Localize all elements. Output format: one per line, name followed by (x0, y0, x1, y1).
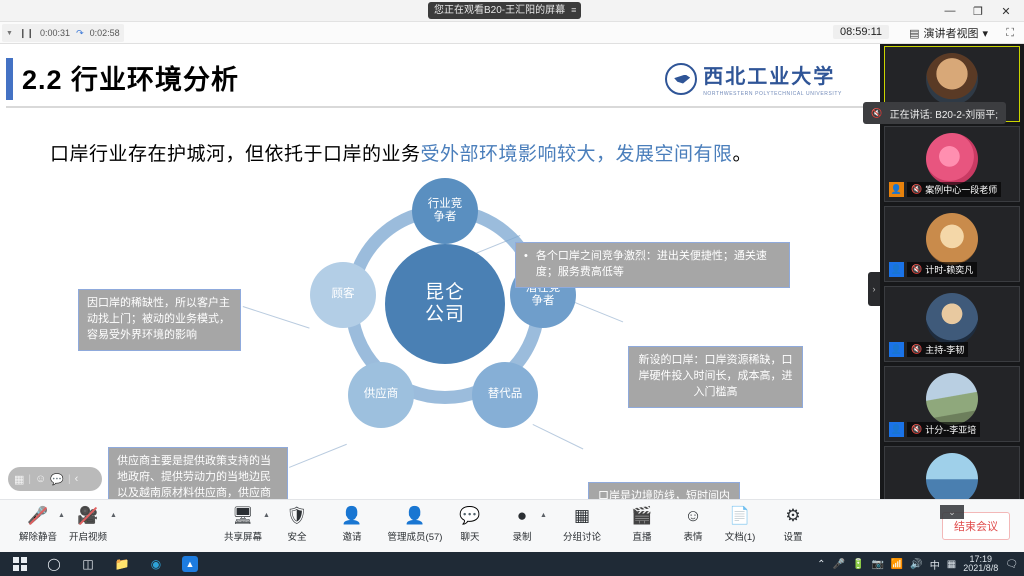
participant-badge-icon: 👤 (889, 262, 904, 277)
callout-text: 各个口岸之间竞争激烈：进出关便捷性；通关速度；服务费高低等 (536, 249, 781, 281)
toolbar-label: 邀请 (342, 529, 361, 543)
fullscreen-icon[interactable]: ⛶ (1006, 27, 1014, 40)
participant-tile[interactable]: 👤 🔇 计时-赖奕凡 (884, 206, 1020, 282)
callout-text: 因口岸的稀缺性，所以客户主动找上门；被动的业务模式，容易受外界环境的影响 (87, 297, 230, 341)
chevron-up-icon[interactable]: ⌃ (817, 559, 825, 570)
media-playback-controls[interactable]: ▼ ❙❙ 0:00:31 ↷ 0:02:58 (2, 24, 124, 42)
elapsed-time: 0:00:31 (40, 28, 70, 38)
avatar (926, 453, 978, 505)
mic-muted-icon: 🔇 (911, 184, 922, 195)
caption-icon[interactable]: 💬 (50, 473, 64, 486)
participant-name: 主持-李韧 (925, 343, 964, 356)
rail-scroll-down-button[interactable]: ⌄ (940, 505, 964, 519)
toolbar-label: 开启视频 (69, 529, 107, 543)
loop-icon[interactable]: ↷ (76, 28, 84, 39)
slide-lead-text: 口岸行业存在护城河，但依托于口岸的业务受外部环境影响较大，发展空间有限。 (50, 139, 850, 166)
avatar (926, 133, 978, 185)
taskbar-date: 2021/8/8 (963, 563, 998, 573)
meeting-toolbar: 🎤 解除静音 ▲ 🎥 开启视频 ▲ 🖥 共享屏幕 ▲ 🛡 安全 👤 邀请 👤 管… (0, 499, 1024, 552)
lead-text-highlight: 受外部环境影响较大，发展空间有限 (421, 144, 733, 165)
emoji-icon[interactable]: ☺ (35, 473, 46, 485)
callout-text: 新设的口岸：口岸资源稀缺，口岸硬件投入时间长，成本高，进入门槛高 (639, 354, 793, 398)
meeting-screen-share-window: ⓘ 🛡 📶 您正在观看B20-王汇阳的屏幕 ≡ — ❐ ✕ ▼ ❙❙ 0:00:… (0, 0, 1024, 576)
notification-icon[interactable]: 🗨 (1005, 559, 1018, 570)
diagram-node-customer: 顾客 (310, 262, 376, 328)
record-icon: ● (517, 505, 527, 527)
toolbar-label: 聊天 (460, 529, 479, 543)
lead-text-part1: 口岸行业存在护城河，但依托于口岸的业务 (50, 144, 421, 165)
folder-icon[interactable]: 📁 (106, 552, 138, 576)
view-mode-selector[interactable]: ▤ 演讲者视图 ▾ (909, 25, 988, 41)
toolbar-label: 分组讨论 (563, 529, 601, 543)
diagram-node-label: 替代品 (488, 388, 523, 401)
university-name-en: NORTHWESTERN POLYTECHNICAL UNIVERSITY (703, 91, 842, 97)
participant-namebar: 👤 🔇 计时-赖奕凡 (889, 262, 977, 277)
keyboard-icon[interactable]: ▦ (947, 559, 956, 570)
participant-rail: › 👤 🔇 案例中心一段老师 👤 🔇 计时-赖奕凡 (880, 44, 1024, 499)
meeting-app-icon[interactable]: ▲ (182, 556, 198, 572)
toolbar-label: 管理成员(57) (388, 529, 443, 543)
bullet-icon: • (524, 249, 528, 281)
person-icon: 👤 (404, 505, 425, 527)
record-caret-icon[interactable]: ▲ (540, 512, 547, 519)
mic-muted-icon: 🔇 (911, 344, 922, 355)
circle-search-icon[interactable]: ◯ (38, 552, 70, 576)
page-title: 2.2 行业环境分析 (22, 58, 239, 97)
shared-slide: 2.2 行业环境分析 西北工业大学 NORTHWESTERN POLYTECHN… (0, 44, 880, 499)
ime-indicator[interactable]: 中 (930, 557, 940, 572)
speaking-toast: 🔇 正在讲话: B20-2-刘丽平; (863, 102, 1006, 124)
apps-icon[interactable]: ▦ (14, 473, 24, 486)
toolbar-invite-button[interactable]: 👤 邀请 (322, 505, 382, 543)
person-add-icon: 👤 (341, 505, 362, 527)
participant-nametag: 🔇 计时-赖奕凡 (907, 262, 977, 277)
close-button[interactable]: ✕ (992, 0, 1020, 22)
screen-share-icon: 🖥 (232, 505, 254, 527)
diagram-node-industry-competitor: 行业竞 争者 (412, 178, 478, 244)
camera-muted-icon: 🎥 (77, 505, 98, 527)
task-view-icon[interactable]: ◫ (72, 552, 104, 576)
edge-icon[interactable]: ◉ (140, 552, 172, 576)
hamburger-icon[interactable]: ≡ (571, 2, 575, 19)
collapse-icon[interactable]: ‹ (75, 473, 79, 485)
mic-muted-icon: 🔇 (911, 424, 922, 435)
video-caret-icon[interactable]: ▲ (110, 512, 117, 519)
title-divider (6, 106, 872, 108)
chat-icon: 💬 (459, 505, 480, 527)
toolbar-label: 安全 (287, 529, 306, 543)
diagram-node-substitute: 替代品 (472, 362, 538, 428)
participant-badge-icon: 👤 (889, 182, 904, 197)
diagram-node-label: 顾客 (332, 288, 355, 301)
windows-logo-icon[interactable] (4, 552, 36, 576)
leader-line-supplier (289, 444, 347, 468)
participant-tile[interactable]: 👤 🔇 案例中心一段老师 (884, 126, 1020, 202)
leader-line-customer (243, 306, 310, 329)
callout-text: 供应商主要是提供政策支持的当地政府、提供劳动力的当地边民以及越南原材料供应商，供… (117, 455, 271, 499)
chevron-down-icon[interactable]: ▾ (982, 27, 988, 40)
participant-badge-icon: 👤 (889, 422, 904, 437)
total-time: 0:02:58 (90, 28, 120, 38)
mic-muted-icon: 🔇 (911, 264, 922, 275)
microphone-muted-icon: 🎤 (27, 505, 48, 527)
mic-icon[interactable]: 🎤 (833, 559, 845, 570)
windows-taskbar: ◯ ◫ 📁 ◉ ▲ ⌃ 🎤 🔋 📷 📶 🔊 中 ▦ 17:19 2021/8/8… (0, 552, 1024, 576)
toolbar-share-screen-button[interactable]: 🖥 共享屏幕 (213, 505, 273, 543)
callout-text: 口岸是边境防线，短时间内不可替代 (598, 490, 730, 499)
lead-text-part2: 。 (733, 144, 753, 165)
diagram-node-label: 行业竞 争者 (428, 198, 463, 224)
callout-potential-competitor: 新设的口岸：口岸资源稀缺，口岸硬件投入时间长，成本高，进入门槛高 (628, 346, 803, 408)
callout-customer: 因口岸的稀缺性，所以客户主动找上门；被动的业务模式，容易受外界环境的影响 (78, 289, 241, 351)
breakout-rooms-icon: ▦ (574, 505, 590, 527)
toolbar-label: 表情 (683, 529, 702, 543)
document-icon: 📄 (729, 505, 750, 527)
taskbar-app-icons: ◯ ◫ 📁 ◉ ▲ (0, 552, 198, 576)
toolbar-start-video-button[interactable]: 🎥 开启视频 (58, 505, 118, 543)
window-controls: — ❐ ✕ (936, 0, 1020, 22)
caret-down-icon[interactable]: ▼ (6, 30, 13, 37)
avatar (926, 213, 978, 265)
smiley-icon: ☺ (684, 505, 701, 527)
toolbar-breakout-button[interactable]: ▦ 分组讨论 (552, 505, 612, 543)
view-mode-label: 演讲者视图 (923, 25, 978, 41)
participant-badge-icon: 👤 (889, 342, 904, 357)
participant-tile[interactable]: 👤 🔇 计分--李亚培 (884, 366, 1020, 442)
maximize-button[interactable]: ❐ (964, 0, 992, 22)
divider: | (28, 474, 31, 485)
meeting-subbar: ▼ ❙❙ 0:00:31 ↷ 0:02:58 08:59:11 ▤ 演讲者视图 … (0, 22, 1024, 44)
participant-name: 计时-赖奕凡 (925, 263, 973, 276)
participant-nametag: 🔇 案例中心一段老师 (907, 182, 1001, 197)
avatar (926, 373, 978, 425)
toolbar-label: 文档(1) (725, 529, 756, 543)
callout-supplier: 供应商主要是提供政策支持的当地政府、提供劳动力的当地边民以及越南原材料供应商，供… (108, 447, 288, 499)
participant-namebar: 👤 🔇 计分--李亚培 (889, 422, 980, 437)
participant-name: 计分--李亚培 (925, 423, 976, 436)
participant-nametag: 🔇 主持-李韧 (907, 342, 968, 357)
title-accent-bar (6, 58, 13, 100)
gear-icon: ⚙ (785, 505, 800, 527)
diagram-center-node: 昆仑 公司 (385, 244, 505, 364)
wifi-icon[interactable]: 📶 (891, 559, 903, 570)
university-logo: 西北工业大学 NORTHWESTERN POLYTECHNICAL UNIVER… (665, 60, 842, 97)
avatar (926, 293, 978, 345)
taskbar-clock[interactable]: 17:19 2021/8/8 (963, 555, 998, 574)
university-name-cn: 西北工业大学 (703, 60, 842, 89)
five-forces-diagram: 昆仑 公司 行业竞 争者 潜在竞 争者 替代品 供应商 顾客 • 各个口岸之间竞… (0, 184, 880, 494)
live-stream-icon: 🎬 (631, 505, 652, 527)
meeting-clock: 08:59:11 (833, 25, 889, 39)
camera-tray-icon[interactable]: 📷 (871, 559, 883, 570)
minimize-button[interactable]: — (936, 0, 964, 22)
toolbar-documents-button[interactable]: 📄 文档(1) (710, 505, 770, 543)
toolbar-label: 设置 (783, 529, 802, 543)
slide-header: 2.2 行业环境分析 西北工业大学 NORTHWESTERN POLYTECHN… (0, 50, 880, 102)
toolbar-security-button[interactable]: 🛡 安全 (267, 505, 327, 543)
divider: | (68, 474, 71, 485)
pause-icon[interactable]: ❙❙ (19, 28, 34, 39)
watching-screen-notice[interactable]: 您正在观看B20-王汇阳的屏幕 ≡ (428, 2, 581, 19)
diagram-node-supplier: 供应商 (348, 362, 414, 428)
speaking-toast-text: 正在讲话: B20-2-刘丽平; (890, 106, 998, 121)
mic-muted-icon: 🔇 (871, 108, 882, 119)
participant-namebar: 👤 🔇 案例中心一段老师 (889, 182, 1001, 197)
toolbar-chat-button[interactable]: 💬 聊天 (440, 505, 500, 543)
toolbar-label: 录制 (512, 529, 531, 543)
rail-collapse-button[interactable]: › (868, 272, 880, 306)
callout-substitute: 口岸是边境防线，短时间内不可替代 (588, 482, 740, 499)
toolbar-settings-button[interactable]: ⚙ 设置 (763, 505, 823, 543)
shield-icon: 🛡 (286, 505, 308, 527)
toolbar-label: 直播 (632, 529, 651, 543)
watching-notice-text: 您正在观看B20-王汇阳的屏幕 (434, 2, 565, 19)
leader-line-potential (575, 302, 624, 322)
participant-nametag: 🔇 计分--李亚培 (907, 422, 980, 437)
callout-industry-competitor: • 各个口岸之间竞争激烈：进出关便捷性；通关速度；服务费高低等 (515, 242, 790, 288)
diagram-node-label: 供应商 (364, 388, 399, 401)
participant-namebar: 👤 🔇 主持-李韧 (889, 342, 968, 357)
taskbar-tray: ⌃ 🎤 🔋 📷 📶 🔊 中 ▦ 17:19 2021/8/8 🗨 (817, 555, 1024, 574)
battery-icon[interactable]: 🔋 (852, 559, 864, 570)
university-seal-icon (665, 63, 697, 95)
participant-tile[interactable]: 👤 🔇 主持-李韧 (884, 286, 1020, 362)
window-titlebar: ⓘ 🛡 📶 您正在观看B20-王汇阳的屏幕 ≡ — ❐ ✕ (0, 0, 1024, 22)
toolbar-label: 共享屏幕 (224, 529, 262, 543)
avatar (926, 53, 978, 105)
annotation-floating-toolbar[interactable]: ▦ | ☺ 💬 | ‹ (8, 467, 102, 491)
leader-line-substitute (533, 424, 584, 449)
layout-icon: ▤ (909, 27, 919, 40)
volume-icon[interactable]: 🔊 (910, 559, 922, 570)
diagram-center-label: 昆仑 公司 (425, 282, 465, 326)
participant-name: 案例中心一段老师 (925, 183, 997, 196)
toolbar-record-button[interactable]: ● 录制 (492, 505, 552, 543)
toolbar-label: 解除静音 (19, 529, 57, 543)
